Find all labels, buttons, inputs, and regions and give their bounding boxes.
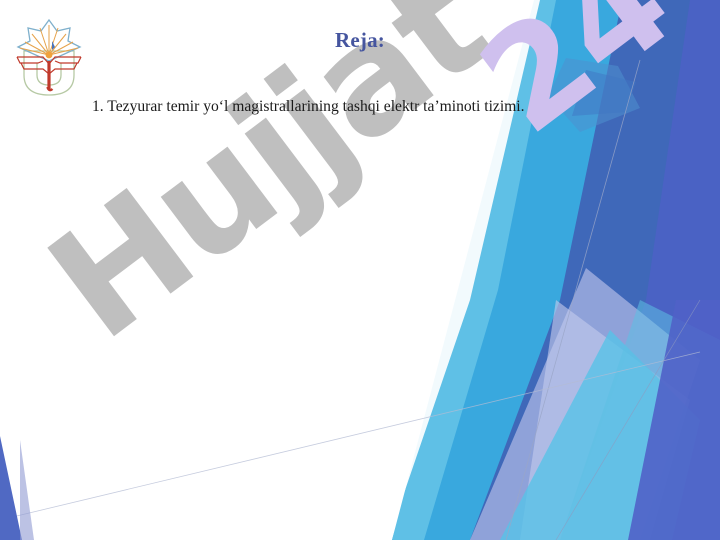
- body-paragraph: 1. Tezyurar temir yo‘l magistrallarining…: [50, 96, 687, 118]
- watermark-24: 24: [452, 0, 699, 165]
- watermark-hujjat: Hujjat: [18, 0, 517, 373]
- hairline-c: [556, 300, 700, 540]
- page-title: Reja:: [0, 28, 720, 53]
- poly-indigo-lower: [628, 300, 720, 540]
- wedge-bottom-left: [0, 436, 22, 540]
- logo-t-stem: [47, 61, 50, 89]
- poly-cyan-lower-2: [560, 300, 720, 540]
- poly-cyan-lower: [500, 330, 700, 540]
- poly-periwinkle-lower-a: [470, 268, 700, 540]
- poly-periwinkle-lower-b: [520, 300, 690, 540]
- wedge-bottom-left-edge: [20, 440, 34, 540]
- hairline-b: [0, 352, 700, 520]
- slide-canvas: Hujjat 24: [0, 0, 720, 540]
